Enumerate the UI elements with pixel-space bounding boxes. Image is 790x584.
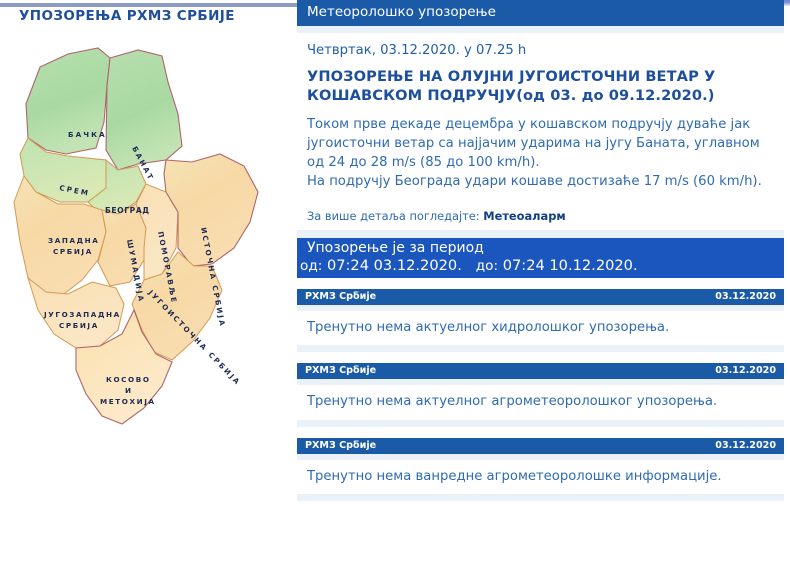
notice-footer-spacer [297, 494, 784, 501]
warnings-column: Метеоролошко упозорење Четвртак, 03.12.2… [297, 0, 784, 501]
warning-period-box: Упозорење је за период од: 07:24 03.12.2… [297, 238, 784, 278]
notice-source: РХМЗ Србије [305, 365, 376, 376]
map-label-5: СРБИЈА [53, 247, 93, 256]
map-label-10: СРБИЈА [59, 321, 99, 330]
meteo-warning-body: Током прве декаде децембра у кошавском п… [297, 109, 784, 193]
meteo-warning-title: УПОЗОРЕЊЕ НА ОЛУЈНИ ЈУГОИСТОЧНИ ВЕТАР У … [297, 65, 784, 109]
map-label-0: БАЧКА [68, 130, 107, 139]
notice-card: РХМЗ Србије03.12.2020Тренутно нема ванре… [297, 438, 784, 501]
meteo-body-paragraph-1: Током прве декаде децембра у кошавском п… [307, 116, 774, 172]
serbia-region-map: БАЧКАБАНАТСРЕМБЕОГРАДЗАПАДНАСРБИЈАШУМАДИ… [6, 42, 291, 437]
map-label-14: МЕТОХИЈА [100, 397, 156, 406]
notice-date: 03.12.2020 [715, 291, 776, 302]
more-details-prefix: За више детаља погледајте: [307, 209, 480, 223]
notice-card: РХМЗ Србије03.12.2020Тренутно нема актуе… [297, 289, 784, 352]
map-label-3: БЕОГРАД [105, 206, 150, 215]
period-from-value: 07:24 03.12.2020. [327, 257, 462, 274]
notice-footer-spacer [297, 420, 784, 427]
map-region-banat [106, 50, 182, 170]
meteoalarm-link[interactable]: Метеоаларм [483, 209, 565, 223]
more-details-line: За више детаља погледајте: Метеоаларм [297, 193, 784, 230]
map-label-4: ЗАПАДНА [48, 236, 99, 245]
notice-date: 03.12.2020 [715, 365, 776, 376]
meteo-body-paragraph-2: На подручју Београда удари кошаве достиз… [307, 173, 774, 192]
period-to-value: 07:24 10.12.2020. [503, 257, 638, 274]
map-label-12: КОСОВО [106, 375, 151, 384]
map-label-13: И [125, 386, 133, 395]
period-top-spacer [297, 230, 784, 238]
notice-text: Тренутно нема актуелног хидролошког упоз… [297, 311, 784, 345]
notice-text: Тренутно нема ванредне агрометеоролошке … [297, 460, 784, 494]
notice-source: РХМЗ Србије [305, 291, 376, 302]
period-to-label: до: [476, 258, 498, 274]
notice-card: РХМЗ Србије03.12.2020Тренутно нема актуе… [297, 363, 784, 426]
notice-source: РХМЗ Србије [305, 440, 376, 451]
page-title: УПОЗОРЕЊА РХМЗ СРБИЈЕ [19, 8, 235, 24]
warning-period-range: од: 07:24 03.12.2020. до: 07:24 10.12.20… [297, 257, 784, 275]
notice-header: РХМЗ Србије03.12.2020 [297, 363, 784, 379]
meteo-issue-datetime: Четвртак, 03.12.2020. у 07.25 h [297, 33, 784, 65]
notice-date: 03.12.2020 [715, 440, 776, 451]
meteo-header-bar: Метеоролошко упозорење [297, 0, 784, 26]
notice-list: РХМЗ Србије03.12.2020Тренутно нема актуе… [297, 289, 784, 501]
notice-footer-spacer [297, 345, 784, 352]
map-label-9: ЈУГОЗАПАДНА [43, 310, 121, 319]
meteo-header-underbar [297, 26, 784, 33]
notice-header: РХМЗ Србије03.12.2020 [297, 438, 784, 454]
notice-header: РХМЗ Србије03.12.2020 [297, 289, 784, 305]
warning-period-heading: Упозорење је за период [297, 240, 784, 257]
notice-text: Тренутно нема актуелног агрометеоролошко… [297, 385, 784, 419]
period-from-label: од: [300, 258, 322, 274]
